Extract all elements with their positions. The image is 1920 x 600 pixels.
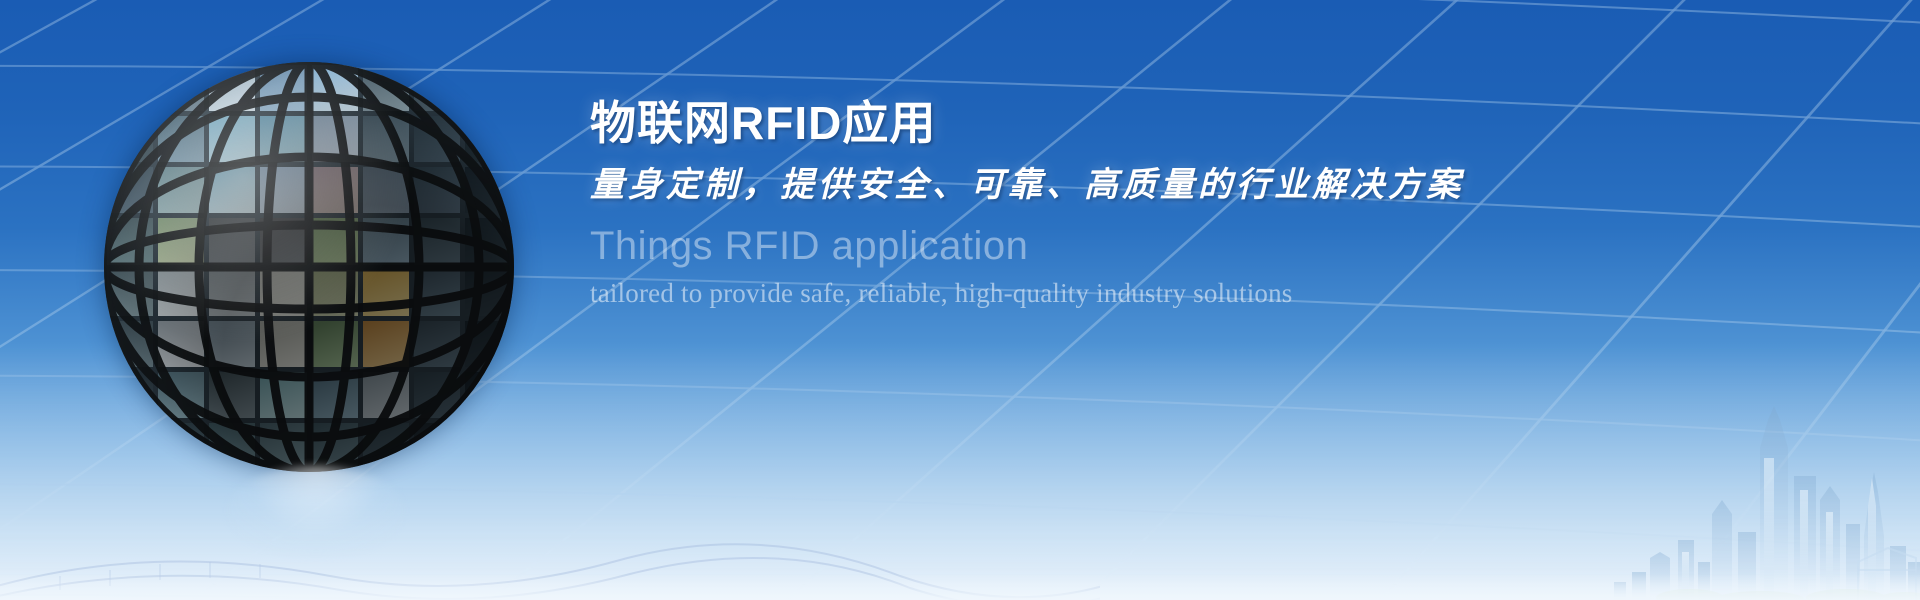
rfid-hero-banner: 物联网RFID应用 量身定制，提供安全、可靠、高质量的行业解决方案 Things… bbox=[0, 0, 1920, 600]
subtitle-chinese: 量身定制，提供安全、可靠、高质量的行业解决方案 bbox=[590, 166, 1710, 207]
globe-reflection bbox=[228, 466, 404, 556]
title-english: Things RFID application bbox=[590, 223, 1710, 269]
globe-mosaic-image bbox=[104, 62, 514, 472]
subtitle-english: tailored to provide safe, reliable, high… bbox=[590, 277, 1710, 309]
page-title: 物联网RFID应用 bbox=[590, 96, 1710, 150]
banner-copy-block: 物联网RFID应用 量身定制，提供安全、可靠、高质量的行业解决方案 Things… bbox=[590, 96, 1710, 309]
globe-sphere bbox=[104, 62, 514, 472]
globe-tile-grid bbox=[104, 62, 514, 472]
